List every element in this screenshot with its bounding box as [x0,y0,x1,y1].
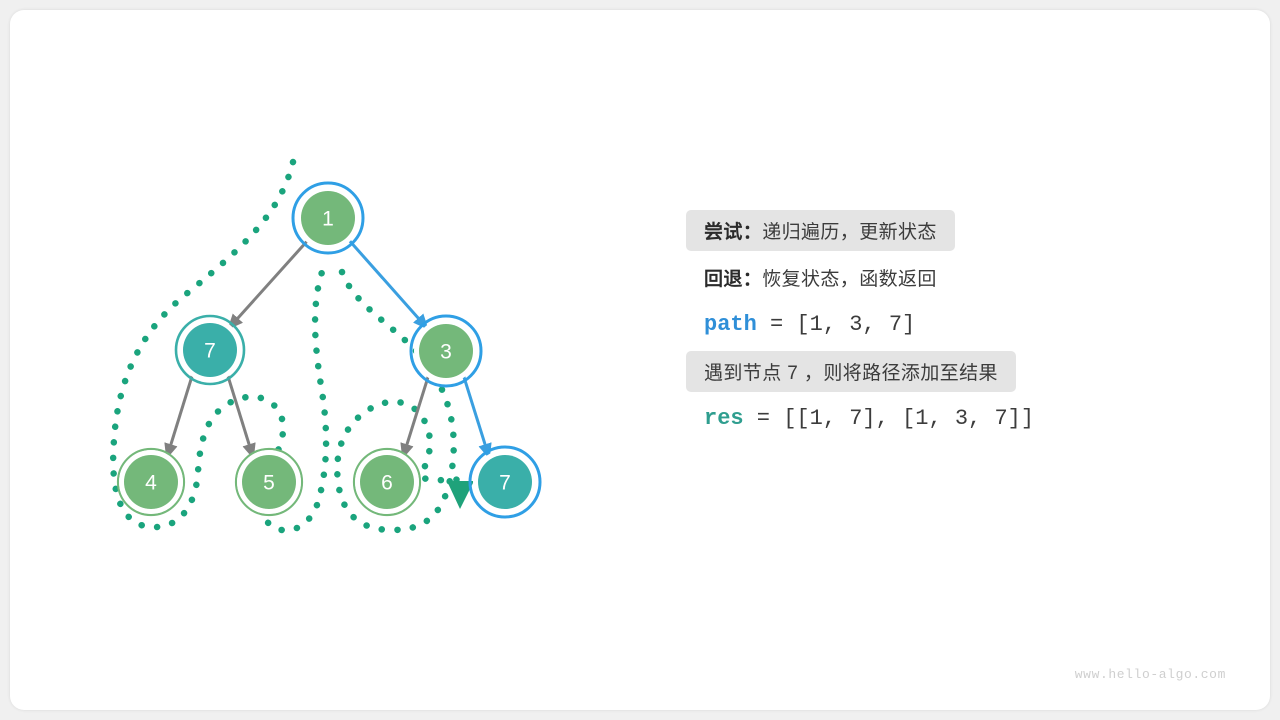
edge-3-6 [403,374,429,457]
node-label: 3 [440,341,452,364]
found-text: 遇到节点 7 ，则将路径添加至结果 [704,358,998,385]
try-label: 尝试： [704,217,762,244]
panel-row-found: 遇到节点 7 ，则将路径添加至结果 [686,351,1156,392]
tree-node-1[interactable]: 1 [293,183,363,253]
explanation-panel: 尝试： 递归遍历，更新状态 回退： 恢复状态，函数返回 path = [1, 3… [686,210,1156,445]
tree-node-5[interactable]: 5 [236,449,302,515]
tree-node-7-left[interactable]: 7 [176,316,244,384]
tree-node-4[interactable]: 4 [118,449,184,515]
backtrack-row-inner: 回退： 恢复状态，函数返回 [686,257,955,298]
panel-row-path: path = [1, 3, 7] [686,304,1156,345]
backtrack-label: 回退： [704,264,762,291]
node-label: 5 [263,472,275,495]
node-label: 1 [322,208,334,231]
figure-card: 1 7 3 4 [10,10,1270,710]
backtrack-text: 恢复状态，函数返回 [762,264,937,291]
panel-row-backtrack: 回退： 恢复状态，函数返回 [686,257,1156,298]
try-text: 递归遍历，更新状态 [762,217,937,244]
res-row-inner: res = [[1, 7], [1, 3, 7]] [686,398,1052,439]
path-row-inner: path = [1, 3, 7] [686,304,933,345]
tree-node-7-right[interactable]: 7 [470,447,540,517]
tree-node-3[interactable]: 3 [411,316,481,386]
res-keyword: res [704,406,744,431]
edge-7l-5 [227,373,253,457]
node-label: 7 [499,472,511,495]
path-keyword: path [704,312,757,337]
path-value: = [1, 3, 7] [757,312,915,337]
figure-area: 1 7 3 4 [10,10,1270,710]
try-highlight-box: 尝试： 递归遍历，更新状态 [686,210,955,251]
node-label: 6 [381,472,393,495]
node-label: 7 [204,340,216,363]
tree-node-6[interactable]: 6 [354,449,420,515]
edge-3-7r [463,374,489,457]
res-value: = [[1, 7], [1, 3, 7]] [744,406,1034,431]
edge-1-7l [229,239,309,328]
panel-row-try: 尝试： 递归遍历，更新状态 [686,210,1156,251]
edge-1-3 [348,239,427,328]
panel-row-res: res = [[1, 7], [1, 3, 7]] [686,398,1156,439]
found-highlight-box: 遇到节点 7 ，则将路径添加至结果 [686,351,1016,392]
site-watermark: www.hello-algo.com [1075,667,1226,682]
node-label: 4 [145,472,157,495]
edge-7l-4 [167,373,193,457]
